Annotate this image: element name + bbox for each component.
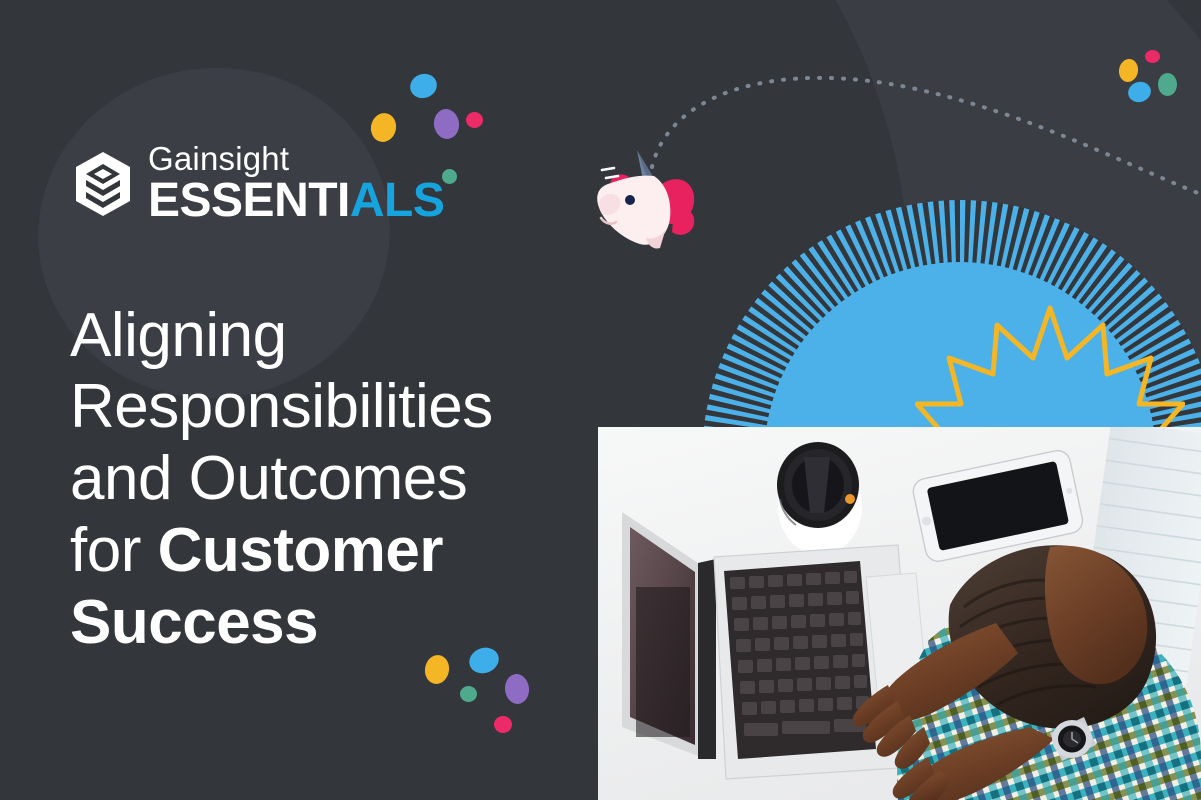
dot-pink-bottom [494, 716, 512, 733]
headline-line-2: Responsibilities [70, 371, 630, 443]
gainsight-hexagon-logo-icon [72, 150, 134, 218]
dot-yellow-top [368, 111, 398, 145]
logo-essentials-accent: ALS [350, 174, 445, 227]
headline-line-4: for Customer [70, 515, 630, 587]
dot-blue-top [407, 70, 441, 102]
dot-purple-top [432, 107, 461, 140]
unicorn-eye-icon [625, 195, 635, 205]
gainsight-essentials-logo[interactable]: Gainsight ESSENTIALS [72, 142, 444, 225]
dot-purple-bottom [503, 673, 530, 705]
promo-banner: Gainsight ESSENTIALS Aligning Responsibi… [0, 0, 1201, 800]
dot-pink-top [466, 112, 483, 128]
person-typing-on-laptop-overhead-photo [598, 427, 1201, 800]
dot-teal-bottom [460, 686, 477, 702]
headline-line-1: Aligning [70, 300, 630, 372]
headline-line-5: Success [70, 587, 630, 659]
unicorn-head-mascot-icon [588, 140, 713, 260]
coffee-cup [777, 442, 862, 555]
page-title: Aligning Responsibilities and Outcomes f… [70, 300, 630, 660]
headline-line-4-bold: Customer [158, 516, 443, 585]
dashed-arc-trail [630, 55, 1201, 215]
headline-line-3: and Outcomes [70, 443, 630, 515]
logo-word-gainsight: Gainsight [148, 142, 444, 175]
unicorn-motion-lines [602, 168, 618, 178]
logo-essentials-white: ESSENTI [148, 174, 350, 227]
headline-line-4-light: for [70, 516, 158, 585]
logo-word-essentials: ESSENTIALS [148, 177, 444, 225]
